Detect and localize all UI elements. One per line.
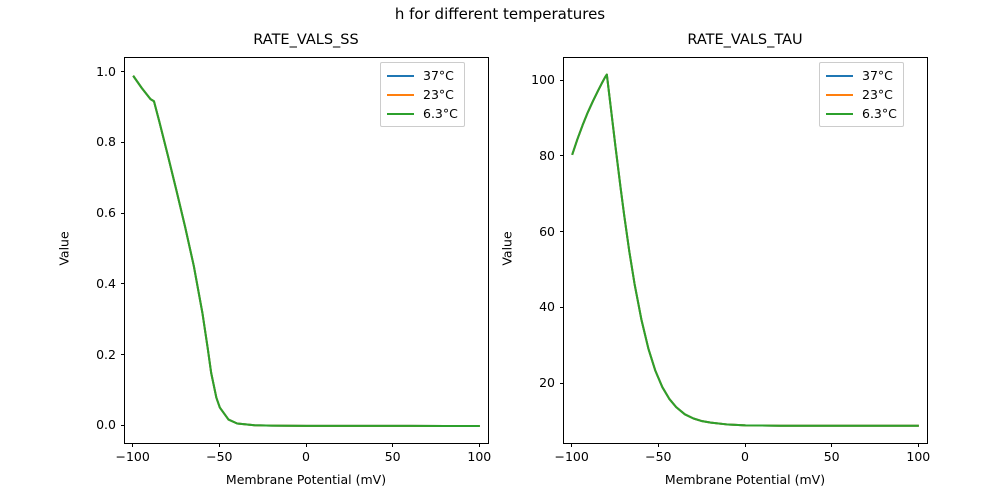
legend-tau[interactable]: 37°C23°C6.3°C — [819, 62, 904, 127]
ytick-label: 100 — [475, 72, 555, 87]
xtick-label: 50 — [353, 449, 433, 464]
xtick-label: 100 — [878, 449, 958, 464]
legend-line-swatch — [826, 94, 853, 96]
ytick-label: 1.0 — [36, 64, 116, 79]
legend-line-swatch — [826, 75, 853, 77]
legend-entry-label: 23°C — [862, 86, 893, 103]
xtick-label: −100 — [532, 449, 612, 464]
xtick-mark — [306, 443, 307, 447]
ytick-mark — [560, 307, 564, 308]
xtick-label: −50 — [179, 449, 259, 464]
legend-entry-label: 23°C — [423, 86, 454, 103]
legend-ss[interactable]: 37°C23°C6.3°C — [380, 62, 465, 127]
ytick-label: 0.0 — [36, 417, 116, 432]
legend-entry-label: 6.3°C — [862, 105, 897, 122]
xtick-label: 0 — [705, 449, 785, 464]
xtick-label: 50 — [792, 449, 872, 464]
xtick-mark — [658, 443, 659, 447]
ytick-label: 20 — [475, 375, 555, 390]
legend-entry-23[interactable]: 23°C — [826, 86, 897, 103]
xtick-mark — [745, 443, 746, 447]
figure-suptitle: h for different temperatures — [0, 5, 1000, 23]
legend-entry-label: 37°C — [423, 67, 454, 84]
xtick-mark — [479, 443, 480, 447]
yaxis-label-tau: Value — [500, 199, 515, 299]
legend-line-swatch — [387, 113, 414, 115]
legend-entry-label: 37°C — [862, 67, 893, 84]
ytick-label: 0.8 — [36, 134, 116, 149]
legend-entry-6.3[interactable]: 6.3°C — [387, 105, 458, 122]
xtick-mark — [831, 443, 832, 447]
ytick-label: 0.4 — [36, 276, 116, 291]
ytick-mark — [121, 354, 125, 355]
legend-entry-label: 6.3°C — [423, 105, 458, 122]
legend-line-swatch — [387, 75, 414, 77]
ytick-label: 80 — [475, 148, 555, 163]
xtick-mark — [918, 443, 919, 447]
ytick-label: 0.2 — [36, 347, 116, 362]
xtick-mark — [219, 443, 220, 447]
ytick-mark — [121, 142, 125, 143]
figure-canvas: h for different temperatures RATE_VALS_S… — [0, 0, 1000, 500]
series-line-6.3 — [572, 75, 919, 426]
xtick-mark — [132, 443, 133, 447]
legend-entry-23[interactable]: 23°C — [387, 86, 458, 103]
xaxis-label-tau: Membrane Potential (mV) — [563, 472, 927, 487]
ytick-mark — [560, 80, 564, 81]
xtick-label: −50 — [618, 449, 698, 464]
yaxis-label-ss: Value — [57, 199, 72, 299]
series-line-37 — [572, 75, 919, 426]
series-line-23 — [133, 76, 480, 426]
ytick-mark — [121, 213, 125, 214]
legend-entry-6.3[interactable]: 6.3°C — [826, 105, 897, 122]
ytick-mark — [560, 231, 564, 232]
ytick-mark — [121, 71, 125, 72]
ytick-label: 0.6 — [36, 205, 116, 220]
legend-line-swatch — [826, 113, 853, 115]
ytick-mark — [560, 383, 564, 384]
series-line-23 — [572, 75, 919, 426]
axes-title-ss: RATE_VALS_SS — [124, 32, 488, 48]
series-line-6.3 — [133, 76, 480, 426]
xaxis-label-ss: Membrane Potential (mV) — [124, 472, 488, 487]
ytick-mark — [560, 155, 564, 156]
series-line-37 — [133, 76, 480, 426]
ytick-mark — [121, 283, 125, 284]
legend-entry-37[interactable]: 37°C — [387, 67, 458, 84]
xtick-label: 0 — [266, 449, 346, 464]
xtick-label: 100 — [439, 449, 519, 464]
ytick-label: 60 — [475, 224, 555, 239]
xtick-label: −100 — [93, 449, 173, 464]
ytick-label: 40 — [475, 299, 555, 314]
xtick-mark — [571, 443, 572, 447]
legend-entry-37[interactable]: 37°C — [826, 67, 897, 84]
legend-line-swatch — [387, 94, 414, 96]
axes-title-tau: RATE_VALS_TAU — [563, 32, 927, 48]
ytick-mark — [121, 425, 125, 426]
xtick-mark — [392, 443, 393, 447]
